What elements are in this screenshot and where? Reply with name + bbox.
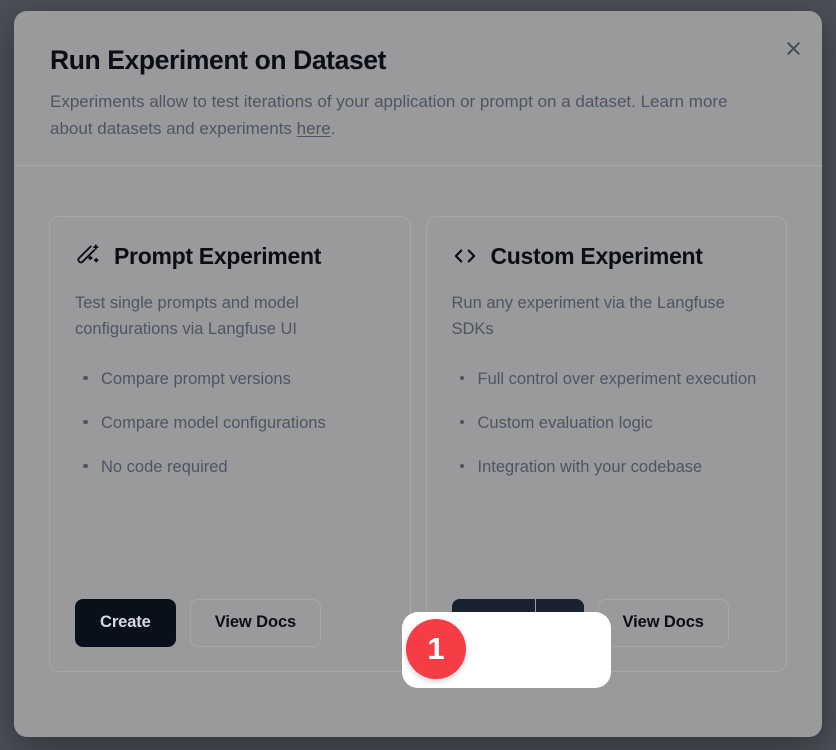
card-header: Prompt Experiment [75,243,385,270]
dialog-description-text: Experiments allow to test iterations of … [50,92,728,138]
card-description: Test single prompts and model configurat… [75,290,385,342]
card-description: Run any experiment via the Langfuse SDKs [452,290,762,342]
card-title: Prompt Experiment [114,243,321,270]
run-experiment-dialog: Run Experiment on Dataset Experiments al… [14,11,822,737]
list-item: No code required [75,454,385,480]
magic-wand-sparkles-icon [75,243,101,269]
create-button[interactable]: Create [75,599,176,647]
card-custom-experiment[interactable]: Custom Experiment Run any experiment via… [426,216,788,672]
card-header: Custom Experiment [452,243,762,270]
list-item: Compare model configurations [75,410,385,436]
dialog-header: Run Experiment on Dataset Experiments al… [14,11,822,166]
card-title: Custom Experiment [491,243,703,270]
view-docs-button-prompt[interactable]: View Docs [190,599,321,647]
dialog-description: Experiments allow to test iterations of … [50,89,740,143]
card-actions: Create View Docs [75,599,385,647]
close-button[interactable] [777,32,809,64]
dialog-description-period: . [331,119,336,138]
card-feature-list: Full control over experiment execution C… [452,366,762,498]
close-icon [785,40,802,57]
list-item: Compare prompt versions [75,366,385,392]
step-badge: 1 [406,619,466,679]
learn-more-link[interactable]: here [297,119,331,138]
code-brackets-icon [452,243,478,269]
list-item: Custom evaluation logic [452,410,762,436]
experiment-type-cards: Prompt Experiment Test single prompts an… [14,166,822,672]
list-item: Full control over experiment execution [452,366,762,392]
view-docs-button-custom[interactable]: View Docs [598,599,729,647]
card-prompt-experiment[interactable]: Prompt Experiment Test single prompts an… [49,216,411,672]
list-item: Integration with your codebase [452,454,762,480]
page-title: Run Experiment on Dataset [50,45,786,77]
card-feature-list: Compare prompt versions Compare model co… [75,366,385,498]
